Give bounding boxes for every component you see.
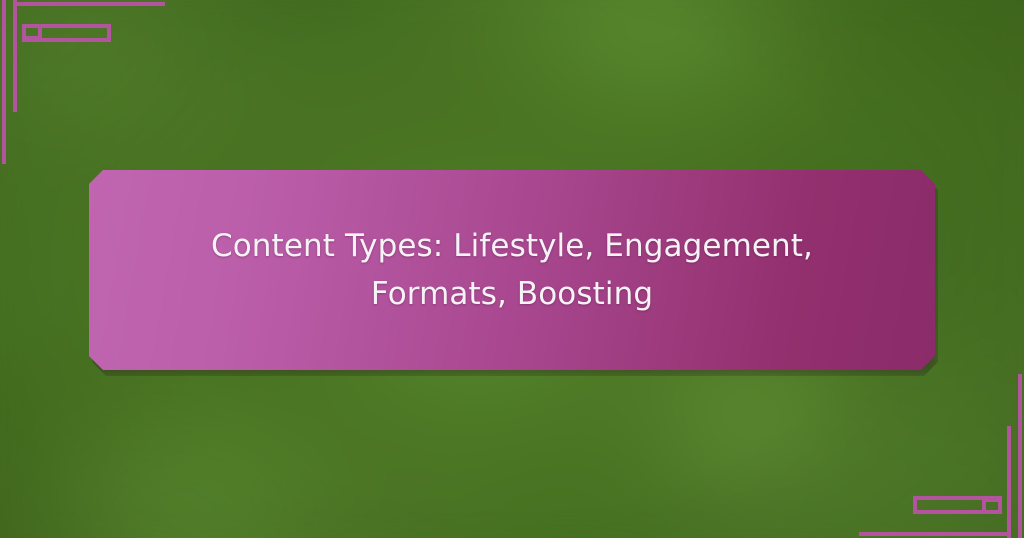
ornament-line-inner-vertical bbox=[1007, 426, 1011, 538]
slide-canvas: Content Types: Lifestyle, Engagement, Fo… bbox=[0, 0, 1024, 538]
ornament-line-hook-horizontal bbox=[913, 496, 1002, 500]
ornament-line-outer-vertical bbox=[1018, 374, 1022, 538]
ornament-line-mid-horizontal bbox=[914, 510, 986, 514]
ornament-line-hook-horizontal bbox=[22, 38, 111, 42]
ornament-line-top-horizontal bbox=[859, 532, 1011, 536]
title-banner: Content Types: Lifestyle, Engagement, Fo… bbox=[89, 170, 935, 370]
ornament-line-mid-horizontal bbox=[38, 24, 110, 28]
slide-title: Content Types: Lifestyle, Engagement, Fo… bbox=[89, 222, 935, 318]
ornament-line-outer-vertical bbox=[2, 0, 6, 164]
ornament-line-inner-vertical bbox=[13, 0, 17, 112]
ornament-line-top-horizontal bbox=[13, 2, 165, 6]
